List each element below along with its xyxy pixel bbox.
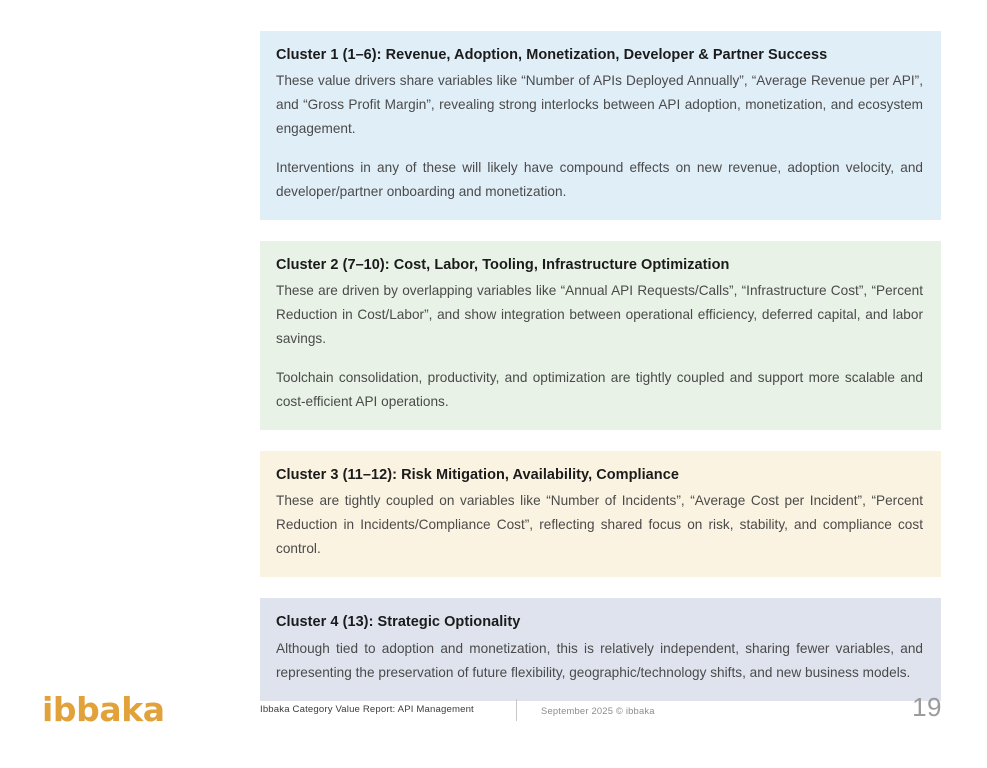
- page-number: 19: [912, 692, 942, 723]
- footer-report-title: Ibbaka Category Value Report: API Manage…: [260, 704, 474, 715]
- cluster-card-4-title: Cluster 4 (13): Strategic Optionality: [276, 612, 923, 633]
- cluster-card-2-title: Cluster 2 (7–10): Cost, Labor, Tooling, …: [276, 255, 923, 276]
- slide: Cluster 1 (1–6): Revenue, Adoption, Mone…: [0, 0, 987, 768]
- cluster-card-1-paragraph-2: Interventions in any of these will likel…: [276, 156, 923, 204]
- footer-date-copyright: September 2025 © ibbaka: [541, 705, 655, 716]
- slide-footer: ibbaka Ibbaka Category Value Report: API…: [0, 682, 987, 768]
- cluster-card-2-paragraph-2: Toolchain consolidation, productivity, a…: [276, 366, 923, 414]
- cluster-card-4-paragraph-1: Although tied to adoption and monetizati…: [276, 637, 923, 685]
- cluster-card-3: Cluster 3 (11–12): Risk Mitigation, Avai…: [260, 451, 941, 578]
- cluster-card-1-title: Cluster 1 (1–6): Revenue, Adoption, Mone…: [276, 45, 923, 66]
- cluster-card-3-paragraph-1: These are tightly coupled on variables l…: [276, 489, 923, 562]
- cluster-card-2: Cluster 2 (7–10): Cost, Labor, Tooling, …: [260, 241, 941, 430]
- cluster-card-2-paragraph-1: These are driven by overlapping variable…: [276, 279, 923, 352]
- ibbaka-logo: ibbaka: [42, 690, 165, 729]
- cluster-card-3-title: Cluster 3 (11–12): Risk Mitigation, Avai…: [276, 465, 923, 486]
- cluster-card-1-paragraph-1: These value drivers share variables like…: [276, 69, 923, 142]
- footer-divider: [516, 699, 517, 721]
- cluster-card-list: Cluster 1 (1–6): Revenue, Adoption, Mone…: [260, 31, 941, 701]
- cluster-card-1: Cluster 1 (1–6): Revenue, Adoption, Mone…: [260, 31, 941, 220]
